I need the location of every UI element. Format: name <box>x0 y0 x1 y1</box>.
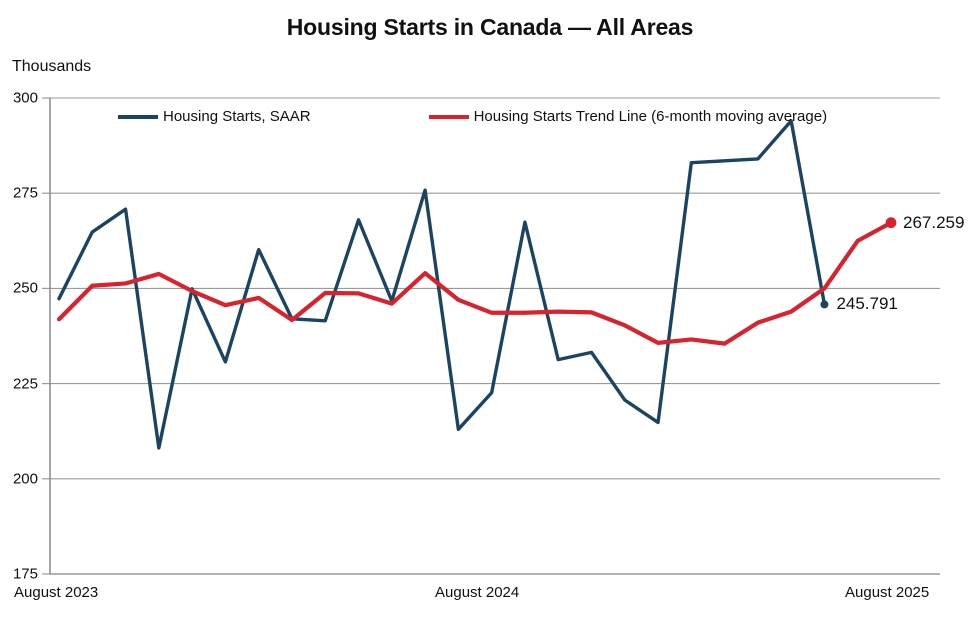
data-label-trend-end: 267.259 <box>903 213 964 233</box>
chart-legend: Housing Starts, SAAR Housing Starts Tren… <box>118 108 827 125</box>
data-point-trend-end <box>886 217 897 228</box>
legend-label-saar: Housing Starts, SAAR <box>163 108 311 125</box>
legend-item-saar[interactable]: Housing Starts, SAAR <box>118 108 311 125</box>
legend-label-trend: Housing Starts Trend Line (6-month movin… <box>474 108 828 125</box>
legend-item-trend[interactable]: Housing Starts Trend Line (6-month movin… <box>429 108 828 125</box>
legend-swatch-saar <box>118 115 158 119</box>
data-point-saar-end <box>820 300 828 308</box>
plot-area <box>0 0 980 633</box>
chart-container: Housing Starts in Canada — All Areas Tho… <box>0 0 980 633</box>
legend-swatch-trend <box>429 115 469 119</box>
data-label-saar-end: 245.791 <box>836 294 897 314</box>
